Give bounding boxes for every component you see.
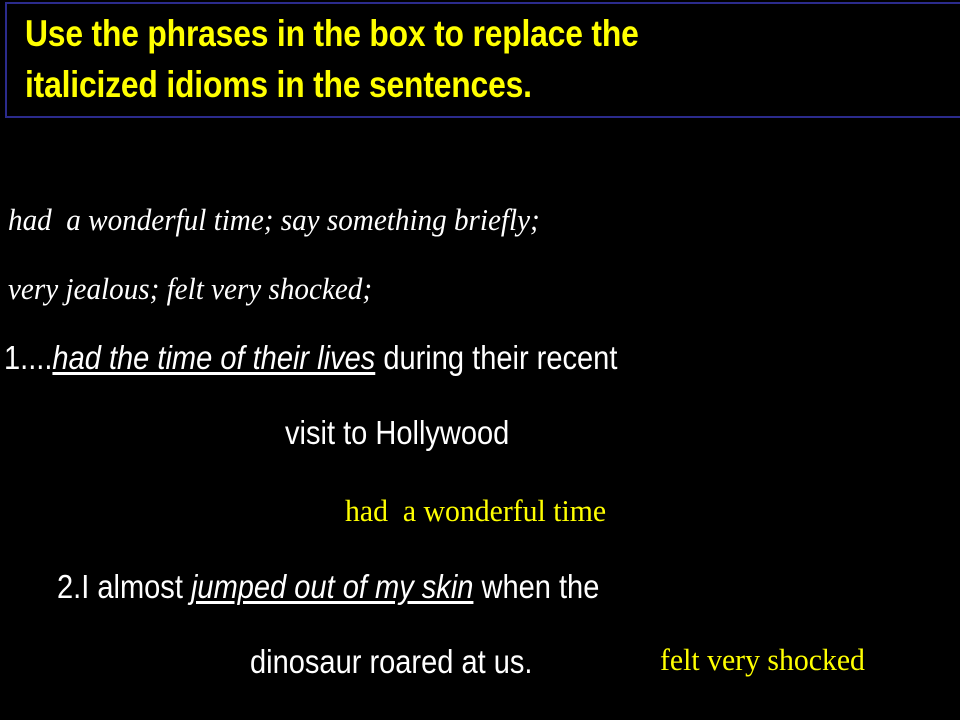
exercise-1-idiom: had the time of their lives <box>52 339 375 376</box>
instruction-box: Use the phrases in the box to replace th… <box>5 2 960 118</box>
exercise-2-line-2: dinosaur roared at us. <box>250 643 533 681</box>
exercise-1-number: 1.... <box>4 339 52 376</box>
exercise-1-line-2: visit to Hollywood <box>285 414 509 452</box>
exercise-2-line-1: 2.I almost jumped out of my skin when th… <box>57 568 599 606</box>
exercise-2-number: 2. <box>57 568 81 605</box>
exercise-2-answer: felt very shocked <box>660 643 865 677</box>
exercise-2-rest: when the <box>473 568 599 605</box>
exercise-1-answer: had a wonderful time <box>345 494 606 528</box>
exercise-1-line-1: 1....had the time of their lives during … <box>4 339 617 377</box>
exercise-2-idiom: jumped out of my skin <box>191 568 473 605</box>
phrase-bank-line-1: had a wonderful time; say something brie… <box>8 203 540 237</box>
phrase-bank-line-2: very jealous; felt very shocked; <box>8 272 372 306</box>
slide-canvas: Use the phrases in the box to replace th… <box>0 0 960 720</box>
exercise-2-lead-in: I almost <box>81 568 191 605</box>
instruction-text: Use the phrases in the box to replace th… <box>25 8 876 110</box>
exercise-1-rest: during their recent <box>375 339 617 376</box>
